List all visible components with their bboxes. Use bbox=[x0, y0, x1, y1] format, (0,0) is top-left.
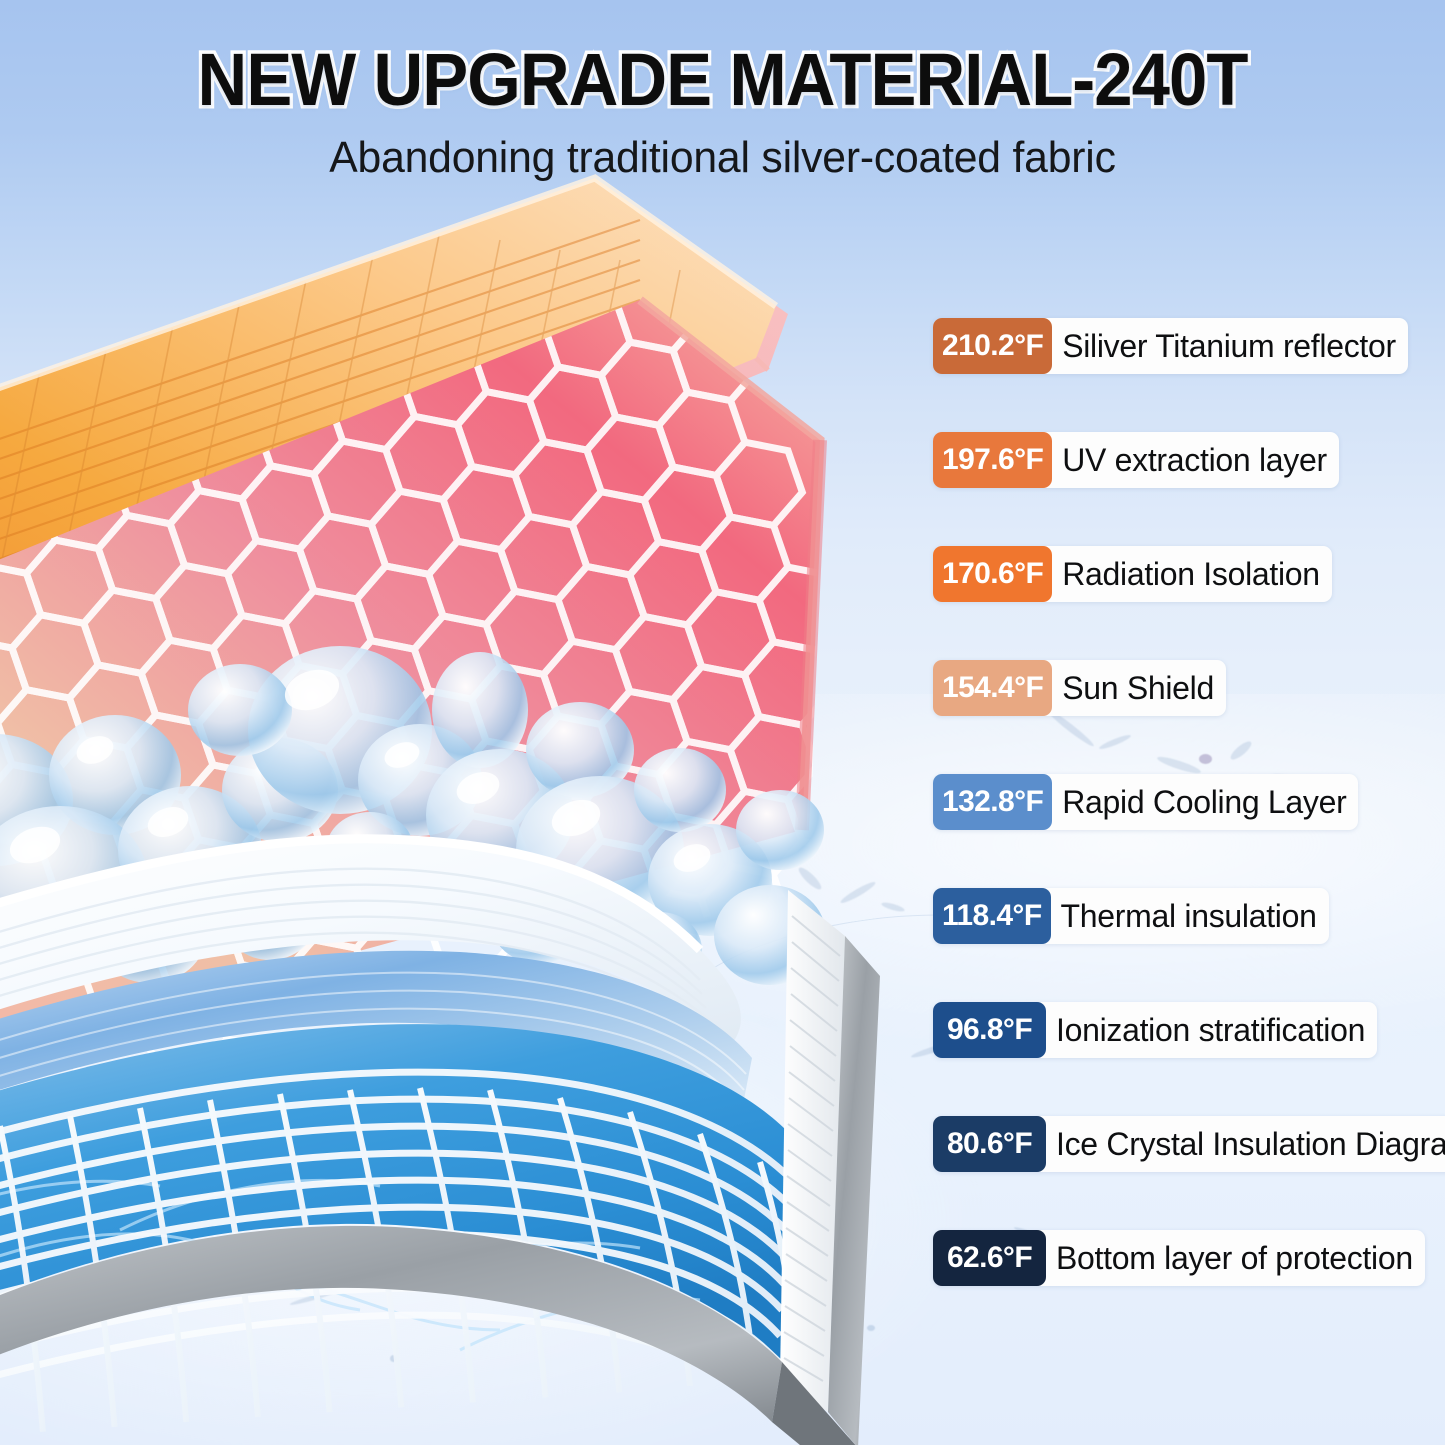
legend-row[interactable]: 170.6°F Radiation Isolation bbox=[933, 546, 1332, 602]
infographic-canvas: NEW UPGRADE MATERIAL-240T Abandoning tra… bbox=[0, 0, 1445, 1445]
layer-label: Siliver Titanium reflector bbox=[1052, 318, 1408, 374]
legend-row[interactable]: 118.4°F Thermal insulation bbox=[933, 888, 1329, 944]
legend-row[interactable]: 197.6°F UV extraction layer bbox=[933, 432, 1339, 488]
temperature-badge: 62.6°F bbox=[933, 1230, 1046, 1286]
fabric-cutaway-illustration bbox=[0, 190, 950, 1445]
temperature-badge: 170.6°F bbox=[933, 546, 1052, 602]
legend-row[interactable]: 154.4°F Sun Shield bbox=[933, 660, 1226, 716]
layer-label: Radiation Isolation bbox=[1052, 546, 1332, 602]
legend-row[interactable]: 80.6°F Ice Crystal Insulation Diagram bbox=[933, 1116, 1445, 1172]
temperature-badge: 118.4°F bbox=[933, 888, 1051, 944]
temperature-badge: 154.4°F bbox=[933, 660, 1052, 716]
temperature-badge: 80.6°F bbox=[933, 1116, 1046, 1172]
legend-row[interactable]: 210.2°F Siliver Titanium reflector bbox=[933, 318, 1408, 374]
layer-label: Bottom layer of protection bbox=[1046, 1230, 1425, 1286]
legend-row[interactable]: 96.8°F Ionization stratification bbox=[933, 1002, 1377, 1058]
layer-label: Ionization stratification bbox=[1046, 1002, 1377, 1058]
layer-label: Thermal insulation bbox=[1051, 888, 1329, 944]
legend-row[interactable]: 132.8°F Rapid Cooling Layer bbox=[933, 774, 1358, 830]
headline-block: NEW UPGRADE MATERIAL-240T Abandoning tra… bbox=[0, 42, 1445, 183]
page-title: NEW UPGRADE MATERIAL-240T bbox=[51, 42, 1395, 119]
page-subtitle: Abandoning traditional silver-coated fab… bbox=[22, 133, 1424, 183]
temperature-badge: 132.8°F bbox=[933, 774, 1052, 830]
layer-label: UV extraction layer bbox=[1052, 432, 1339, 488]
layer-label: Rapid Cooling Layer bbox=[1052, 774, 1358, 830]
layer-label: Sun Shield bbox=[1052, 660, 1226, 716]
temperature-legend: 210.2°F Siliver Titanium reflector 197.6… bbox=[933, 318, 1445, 1286]
legend-row[interactable]: 62.6°F Bottom layer of protection bbox=[933, 1230, 1425, 1286]
temperature-badge: 197.6°F bbox=[933, 432, 1052, 488]
temperature-badge: 96.8°F bbox=[933, 1002, 1046, 1058]
layer-label: Ice Crystal Insulation Diagram bbox=[1046, 1116, 1445, 1172]
temperature-badge: 210.2°F bbox=[933, 318, 1052, 374]
